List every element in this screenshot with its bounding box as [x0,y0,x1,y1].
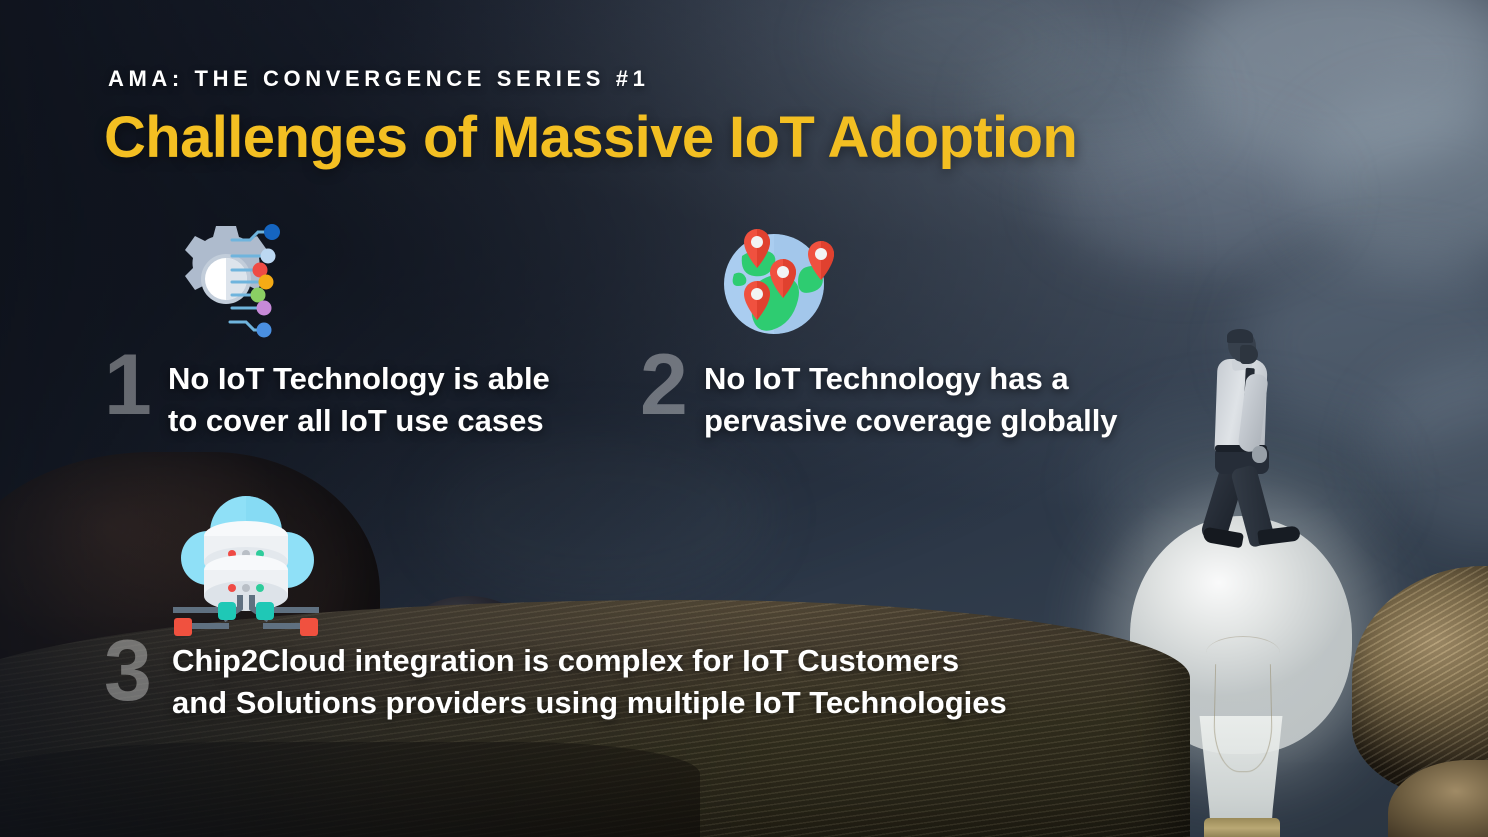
challenge-item-3: 3 Chip2Cloud integration is complex for … [104,640,1164,724]
item-text-line: No IoT Technology is able [168,358,624,400]
item-number-1: 1 [104,342,152,428]
item-text-2: No IoT Technology has a pervasive covera… [704,358,1220,442]
item-text-line: Chip2Cloud integration is complex for Io… [172,640,1164,682]
item-text-line: No IoT Technology has a [704,358,1220,400]
item-text-line: to cover all IoT use cases [168,400,624,442]
item-text-3: Chip2Cloud integration is complex for Io… [172,640,1164,724]
challenge-item-1: 1 No IoT Technology is able to cover all… [104,358,624,442]
item-text-line: and Solutions providers using multiple I… [172,682,1164,724]
slide-canvas: AMA: THE CONVERGENCE SERIES #1 Challenge… [0,0,1488,837]
item-text-1: No IoT Technology is able to cover all I… [168,358,624,442]
item-number-3: 3 [104,628,152,714]
item-number-2: 2 [640,342,688,428]
slide-content: AMA: THE CONVERGENCE SERIES #1 Challenge… [0,0,1488,837]
item-text-line: pervasive coverage globally [704,400,1220,442]
challenge-item-2: 2 No IoT Technology has a pervasive cove… [640,358,1220,442]
gear-circuit-icon [172,216,294,342]
globe-pins-icon [712,212,840,340]
eyebrow-text: AMA: THE CONVERGENCE SERIES #1 [108,66,649,92]
cloud-database-icon [168,486,324,642]
page-title: Challenges of Massive IoT Adoption [104,104,1077,171]
